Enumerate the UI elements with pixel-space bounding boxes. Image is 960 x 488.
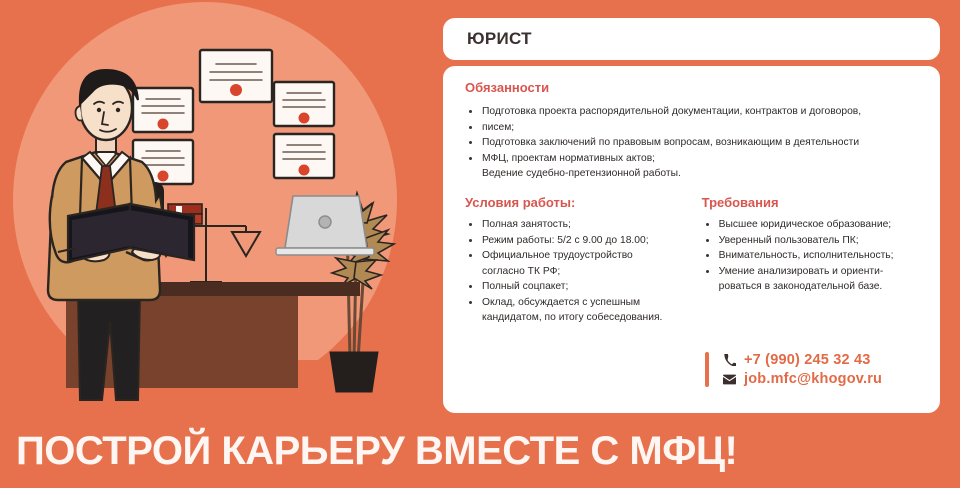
list-item: Внимательность, исполнительность;: [702, 249, 922, 263]
list-item: кандидатом, по итогу собеседования.: [465, 311, 702, 325]
list-item: Полный соцпакет;: [465, 280, 702, 294]
list-item: роваться в законодательной базе.: [702, 280, 922, 294]
lawyer-office-illustration: [0, 0, 432, 414]
job-title-card: ЮРИСТ: [443, 18, 940, 60]
list-item: Подготовка проекта распорядительной доку…: [465, 105, 922, 119]
phone-icon: [723, 354, 736, 367]
list-item: Высшее юридическое образование;: [702, 218, 922, 232]
conditions-list: Полная занятость;Режим работы: 5/2 с 9.0…: [465, 218, 702, 325]
list-item: согласно ТК РФ;: [465, 265, 702, 279]
job-poster: ЮРИСТ Обязанности Подготовка проекта рас…: [0, 0, 960, 488]
email-address: job.mfc@khogov.ru: [744, 371, 882, 387]
list-item: Режим работы: 5/2 с 9.00 до 18.00;: [465, 234, 702, 248]
contact-lines: +7 (990) 245 32 43 job.mfc@khogov.ru: [723, 352, 882, 387]
contact-accent-bar: [705, 352, 709, 387]
list-item: Подготовка заключений по правовым вопрос…: [465, 136, 922, 150]
requirements-column: Требования Высшее юридическое образовани…: [702, 195, 922, 327]
phone-number: +7 (990) 245 32 43: [744, 352, 871, 368]
requirements-list: Высшее юридическое образование;Уверенный…: [702, 218, 922, 294]
phone-row[interactable]: +7 (990) 245 32 43: [723, 352, 882, 368]
list-item: Умение анализировать и ориенти-: [702, 265, 922, 279]
list-item: Оклад, обсуждается с успешным: [465, 296, 702, 310]
list-item: Официальное трудоустройство: [465, 249, 702, 263]
details-columns: Условия работы: Полная занятость;Режим р…: [465, 195, 922, 327]
conditions-column: Условия работы: Полная занятость;Режим р…: [465, 195, 702, 327]
email-row[interactable]: job.mfc@khogov.ru: [723, 371, 882, 387]
conditions-heading: Условия работы:: [465, 195, 702, 210]
list-item: МФЦ, проектам нормативных актов;: [465, 152, 922, 166]
envelope-icon: [723, 373, 736, 386]
slogan-banner: ПОСТРОЙ КАРЬЕРУ ВМЕСТЕ С МФЦ!: [0, 414, 960, 488]
duties-list: Подготовка проекта распорядительной доку…: [465, 105, 922, 181]
contact-block: +7 (990) 245 32 43 job.mfc@khogov.ru: [705, 352, 882, 387]
list-item: писем;: [465, 121, 922, 135]
list-item: Уверенный пользователь ПК;: [702, 234, 922, 248]
job-details-card: Обязанности Подготовка проекта распоряди…: [443, 66, 940, 413]
list-item: Ведение судебно-претензионной работы.: [465, 167, 922, 181]
duties-heading: Обязанности: [465, 80, 922, 95]
requirements-heading: Требования: [702, 195, 922, 210]
illustration-svg: [0, 0, 432, 414]
list-item: Полная занятость;: [465, 218, 702, 232]
page-title: ЮРИСТ: [443, 29, 532, 49]
slogan-text: ПОСТРОЙ КАРЬЕРУ ВМЕСТЕ С МФЦ!: [0, 429, 737, 474]
